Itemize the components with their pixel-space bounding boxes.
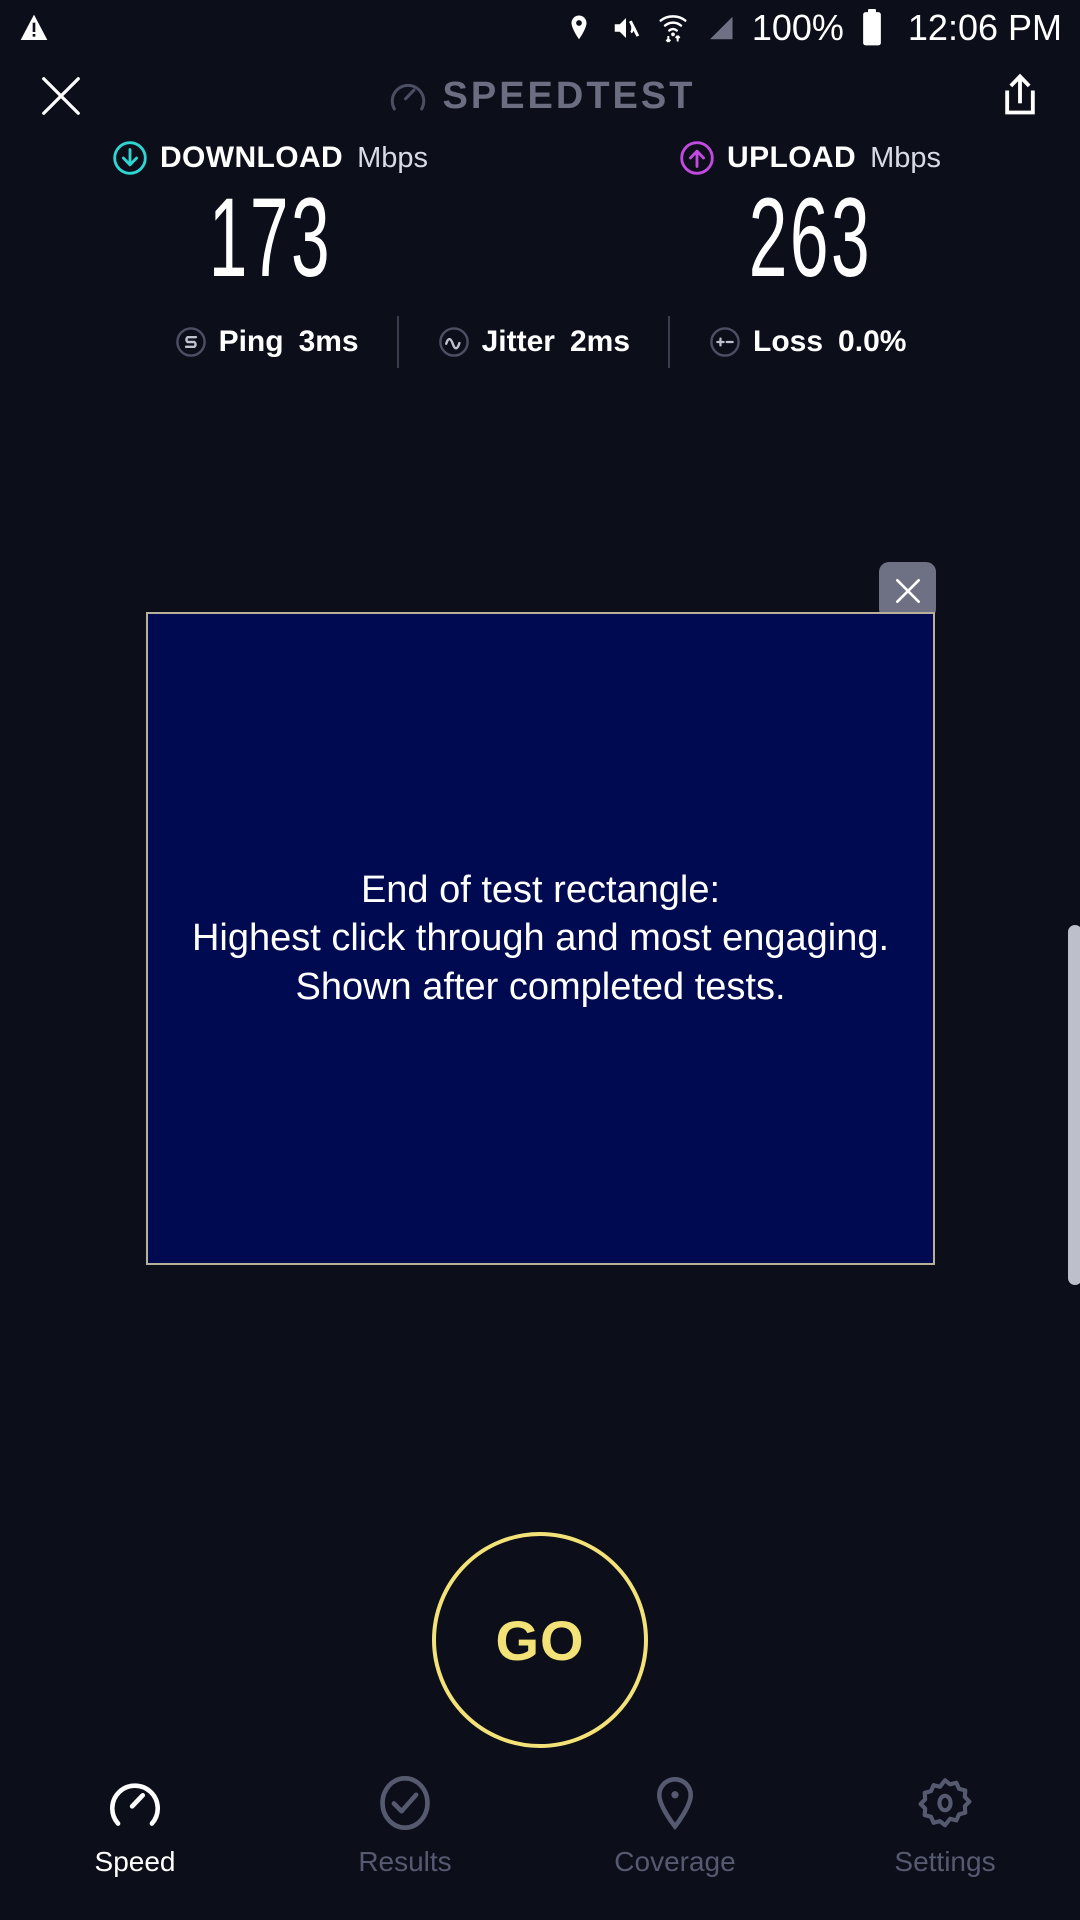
jitter-icon: [437, 325, 471, 359]
bottom-navigation: Speed Results Coverage: [0, 1760, 1080, 1920]
speedtest-gauge-icon: [387, 75, 429, 117]
connection-stats-row: Ping 3ms Jitter 2ms: [0, 316, 1080, 368]
go-button[interactable]: GO: [432, 1532, 648, 1748]
ad-line-3: Shown after completed tests.: [192, 963, 889, 1012]
nav-item-results[interactable]: Results: [270, 1774, 540, 1878]
advertisement-container[interactable]: End of test rectangle: Highest click thr…: [146, 612, 935, 1265]
download-unit: Mbps: [357, 142, 428, 175]
ping-value: 3ms: [299, 325, 359, 359]
status-bar-right: 100% 12:06 PM: [564, 7, 1062, 49]
speedometer-icon: [106, 1774, 164, 1832]
close-icon[interactable]: [38, 73, 84, 119]
mute-icon: [610, 13, 642, 43]
ad-line-1: End of test rectangle:: [192, 866, 889, 915]
download-metric: DOWNLOAD Mbps 173: [0, 140, 540, 294]
ping-label: Ping: [219, 325, 284, 359]
upload-label: UPLOAD: [727, 141, 856, 175]
loss-value: 0.0%: [838, 325, 906, 359]
location-icon: [564, 13, 594, 43]
share-icon[interactable]: [998, 72, 1042, 120]
advertisement-text: End of test rectangle: Highest click thr…: [192, 866, 889, 1012]
download-arrow-icon: [112, 140, 148, 176]
wifi-icon: [658, 12, 688, 44]
upload-label-row: UPLOAD Mbps: [679, 140, 941, 176]
battery-full-icon: [860, 9, 884, 47]
cellular-signal-icon: [704, 13, 736, 43]
loss-label: Loss: [753, 325, 823, 359]
upload-value: 263: [748, 182, 871, 294]
jitter-value: 2ms: [570, 325, 630, 359]
map-pin-icon: [646, 1774, 704, 1832]
jitter-label: Jitter: [482, 325, 555, 359]
app-header: SPEEDTEST: [0, 56, 1080, 136]
nav-label-speed: Speed: [95, 1846, 176, 1878]
stats-divider-1: [397, 316, 399, 368]
warning-icon: [18, 12, 50, 44]
page-title: SPEEDTEST: [443, 75, 696, 118]
nav-label-coverage: Coverage: [614, 1846, 735, 1878]
status-bar: 100% 12:06 PM: [0, 0, 1080, 56]
stats-divider-2: [668, 316, 670, 368]
loss-stat: Loss 0.0%: [708, 325, 906, 359]
ping-icon: [174, 325, 208, 359]
ad-close-icon[interactable]: [879, 562, 936, 619]
results-panel: DOWNLOAD Mbps 173 UPLOAD Mbps 263: [0, 140, 1080, 368]
ad-line-2: Highest click through and most engaging.: [192, 914, 889, 963]
download-label: DOWNLOAD: [160, 141, 343, 175]
nav-item-coverage[interactable]: Coverage: [540, 1774, 810, 1878]
clock-label: 12:06 PM: [908, 7, 1062, 49]
download-value: 173: [208, 182, 331, 294]
nav-label-results: Results: [358, 1846, 451, 1878]
ping-stat: Ping 3ms: [174, 325, 359, 359]
download-label-row: DOWNLOAD Mbps: [112, 140, 428, 176]
jitter-stat: Jitter 2ms: [437, 325, 630, 359]
gear-icon: [916, 1774, 974, 1832]
check-circle-icon: [376, 1774, 434, 1832]
upload-unit: Mbps: [870, 142, 941, 175]
nav-item-speed[interactable]: Speed: [0, 1774, 270, 1878]
speedtest-app-screen: 100% 12:06 PM SPEEDTEST: [0, 0, 1080, 1920]
download-upload-row: DOWNLOAD Mbps 173 UPLOAD Mbps 263: [0, 140, 1080, 294]
nav-label-settings: Settings: [894, 1846, 995, 1878]
go-button-label: GO: [495, 1608, 584, 1673]
loss-icon: [708, 325, 742, 359]
nav-item-settings[interactable]: Settings: [810, 1774, 1080, 1878]
advertisement-banner[interactable]: End of test rectangle: Highest click thr…: [146, 612, 935, 1265]
status-bar-left: [18, 12, 50, 44]
scrollbar-thumb[interactable]: [1068, 925, 1080, 1285]
upload-metric: UPLOAD Mbps 263: [540, 140, 1080, 294]
battery-percent-label: 100%: [752, 7, 844, 49]
brand-lockup: SPEEDTEST: [387, 75, 696, 118]
upload-arrow-icon: [679, 140, 715, 176]
